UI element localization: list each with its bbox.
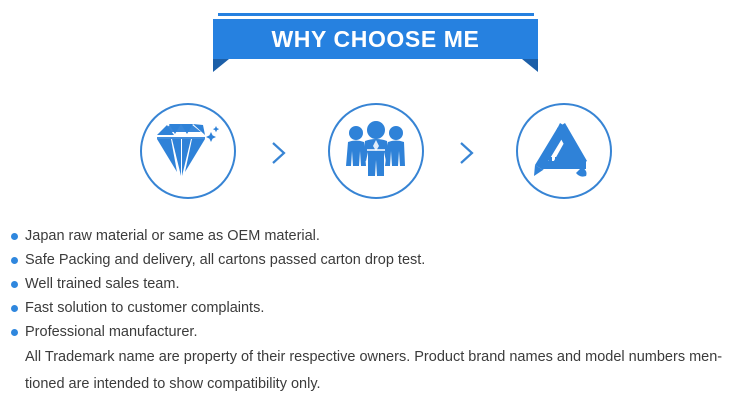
chevron-right-icon-2: [456, 140, 478, 166]
page-title: WHY CHOOSE ME: [271, 28, 479, 51]
bullet-dot-icon: [11, 329, 18, 336]
bullet-dot-icon: [11, 281, 18, 288]
list-item: Well trained sales team.: [0, 272, 750, 296]
bullet-dot-icon: [11, 257, 18, 264]
bullet-dot-icon: [11, 305, 18, 312]
chevron-right-icon-1: [268, 140, 290, 166]
disclaimer-line: All Trademark name are property of their…: [25, 344, 731, 371]
list-item-label: Safe Packing and delivery, all cartons p…: [25, 248, 425, 272]
diamond-icon: [157, 124, 219, 178]
ribbon-fold-right: [522, 59, 538, 72]
list-item: Japan raw material or same as OEM materi…: [0, 224, 750, 248]
team-icon: [343, 120, 409, 182]
feature-circle-diamond: [140, 103, 236, 199]
trademark-disclaimer: All Trademark name are property of their…: [25, 344, 731, 398]
list-item: Safe Packing and delivery, all cartons p…: [0, 248, 750, 272]
design-tools-icon: [531, 121, 597, 181]
why-choose-me-banner: WHY CHOOSE ME: [0, 0, 750, 80]
bullet-dot-icon: [11, 233, 18, 240]
list-item: Professional manufacturer.: [0, 320, 750, 344]
list-item-label: Japan raw material or same as OEM materi…: [25, 224, 320, 248]
benefits-list: Japan raw material or same as OEM materi…: [0, 224, 750, 344]
ribbon-top-line: [218, 13, 534, 16]
list-item-label: Professional manufacturer.: [25, 320, 197, 344]
feature-circle-design-tools: [516, 103, 612, 199]
ribbon-bar: WHY CHOOSE ME: [213, 19, 538, 59]
list-item-label: Fast solution to customer complaints.: [25, 296, 264, 320]
disclaimer-line: tioned are intended to show compatibilit…: [25, 371, 731, 398]
ribbon-fold-left: [213, 59, 229, 72]
list-item-label: Well trained sales team.: [25, 272, 179, 296]
list-item: Fast solution to customer complaints.: [0, 296, 750, 320]
feature-circle-team: [328, 103, 424, 199]
feature-icon-row: [0, 86, 750, 222]
